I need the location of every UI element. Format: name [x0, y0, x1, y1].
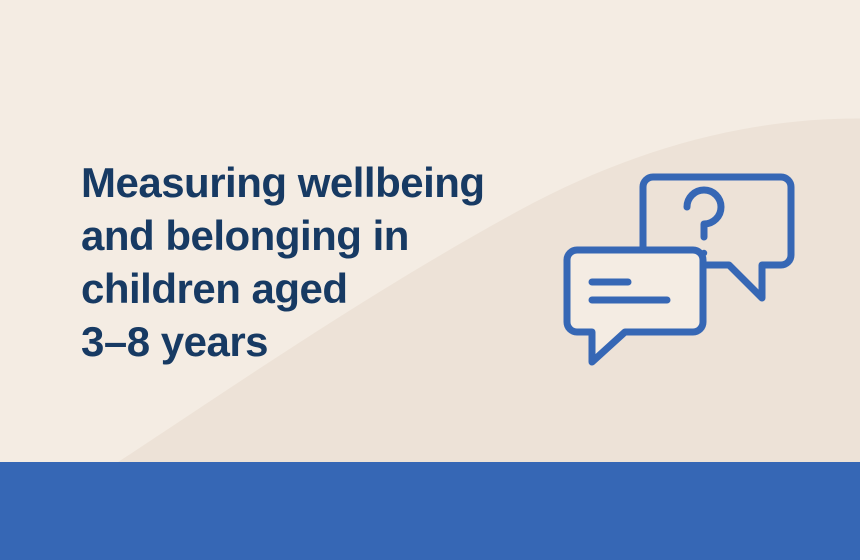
page-title: Measuring wellbeing and belonging in chi…	[81, 156, 551, 368]
footer-bar	[0, 462, 860, 560]
banner-content: Measuring wellbeing and belonging in chi…	[0, 0, 860, 462]
speech-bubbles-svg	[556, 165, 806, 370]
banner: Measuring wellbeing and belonging in chi…	[0, 0, 860, 560]
speech-bubbles-icon	[556, 165, 806, 370]
speech-bubble-lines-icon	[567, 250, 703, 362]
question-mark-icon	[687, 190, 721, 237]
front-bubble-outline	[567, 250, 703, 362]
